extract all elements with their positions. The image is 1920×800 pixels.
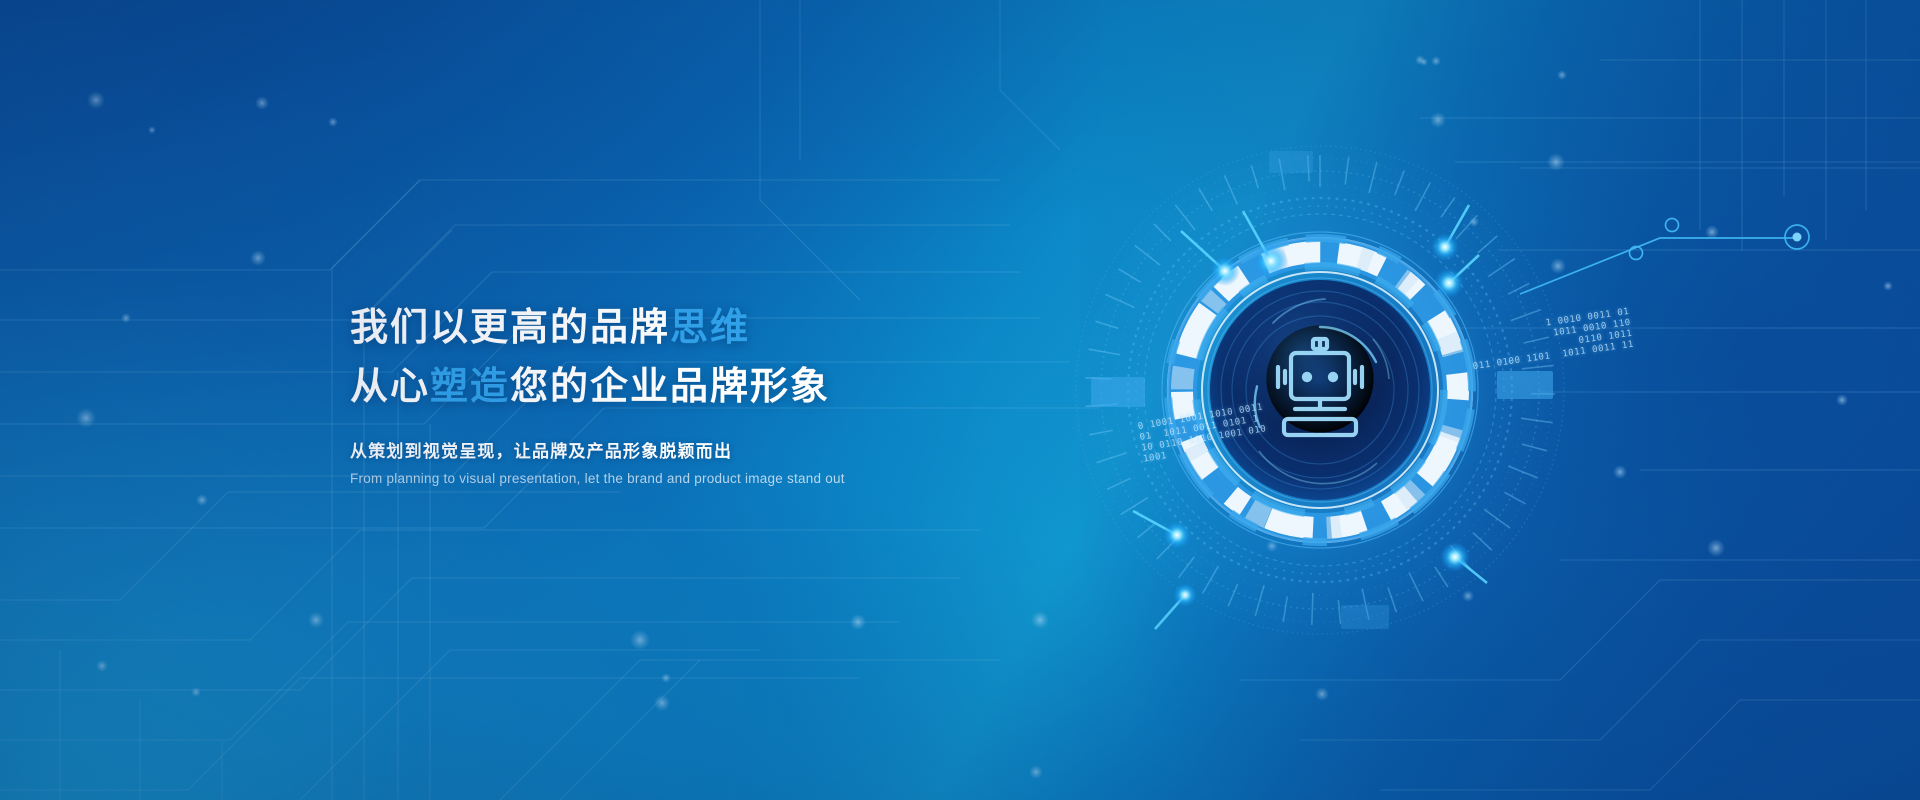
hero-banner: 0 1001 1001 1010 0011 01 1011 0011 0101 …: [0, 0, 1920, 800]
vignette-overlay: [0, 0, 1920, 800]
